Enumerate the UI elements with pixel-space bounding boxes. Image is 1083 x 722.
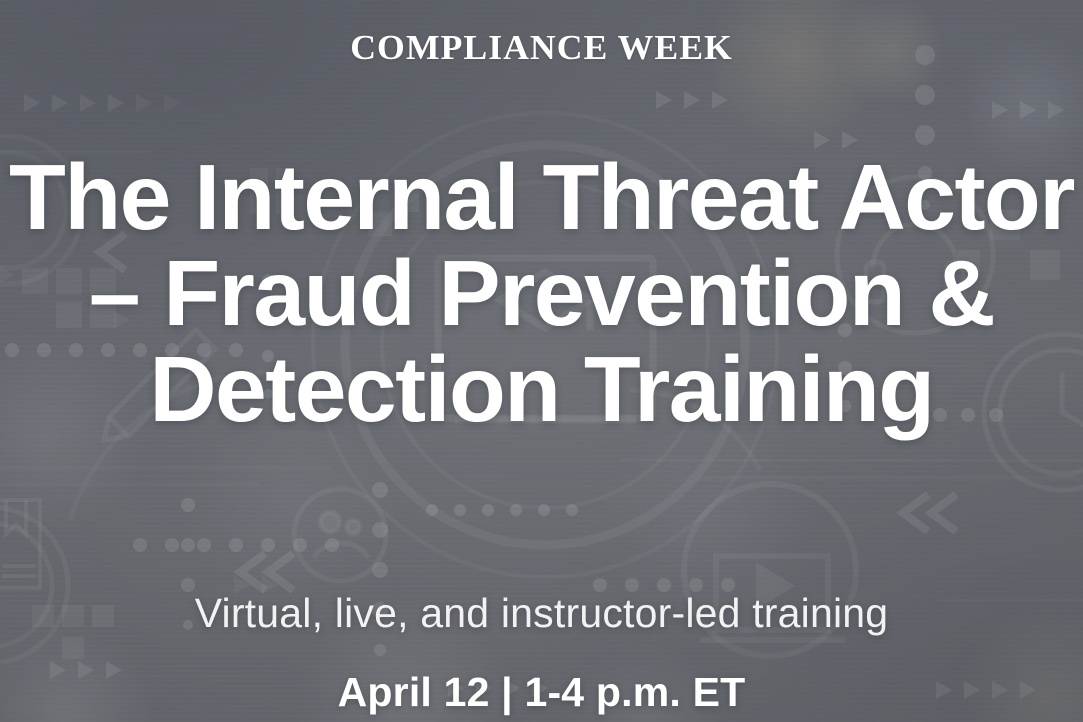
title-line-1: The Internal Threat Actor	[7, 149, 1077, 245]
title-line-3: Detection Training	[7, 341, 1077, 437]
promo-banner: COMPLIANCE WEEK The Internal Threat Acto…	[0, 0, 1083, 722]
event-dateline: April 12 | 1-4 p.m. ET	[338, 670, 746, 715]
event-format-subtitle: Virtual, live, and instructor-led traini…	[195, 591, 889, 636]
banner-content: COMPLIANCE WEEK The Internal Threat Acto…	[0, 0, 1083, 722]
compliance-week-logo: COMPLIANCE WEEK	[350, 30, 733, 65]
page-title: The Internal Threat Actor – Fraud Preven…	[7, 149, 1077, 437]
title-line-2: – Fraud Prevention &	[7, 245, 1077, 341]
